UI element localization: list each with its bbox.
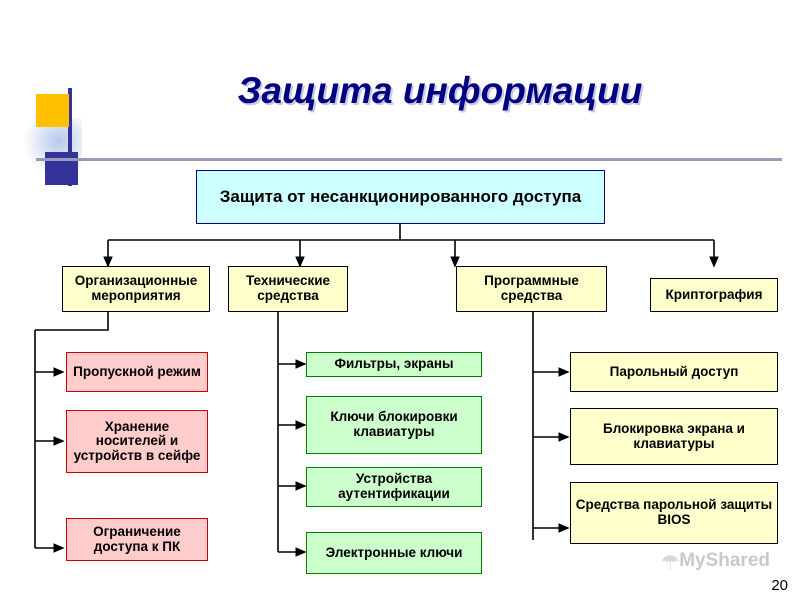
decor-yellow-square (36, 94, 69, 127)
leaf-organizational-2[interactable]: Хранение носителей и устройств в сейфе (66, 410, 208, 473)
slide-canvas: Защита информации (0, 0, 800, 600)
leaf-organizational-3[interactable]: Ограничение доступа к ПК (66, 518, 208, 561)
leaf-technical-1[interactable]: Фильтры, экраны (306, 352, 482, 377)
node-root[interactable]: Защита от несанкционированного доступа (196, 170, 605, 224)
leaf-organizational-1[interactable]: Пропускной режим (66, 352, 208, 392)
watermark-text: MyShared (679, 550, 770, 572)
leaf-technical-4[interactable]: Электронные ключи (306, 532, 482, 574)
leaf-technical-3[interactable]: Устройства аутентификации (306, 467, 482, 507)
page-title: Защита информации (120, 70, 760, 112)
node-branch-software[interactable]: Программные средства (456, 266, 607, 312)
node-branch-cryptography[interactable]: Криптография (650, 278, 778, 312)
title-divider (36, 158, 782, 161)
watermark-icon: ☂ (660, 550, 680, 576)
node-branch-organizational[interactable]: Организационные мероприятия (62, 266, 210, 312)
leaf-software-1[interactable]: Парольный доступ (570, 352, 778, 392)
page-number: 20 (771, 577, 788, 594)
decor-blue-square (45, 152, 78, 185)
leaf-software-3[interactable]: Средства парольной защиты BIOS (570, 482, 778, 544)
leaf-technical-2[interactable]: Ключи блокировки клавиатуры (306, 396, 482, 454)
node-branch-technical[interactable]: Технические средства (228, 266, 348, 312)
leaf-software-2[interactable]: Блокировка экрана и клавиатуры (570, 408, 778, 465)
